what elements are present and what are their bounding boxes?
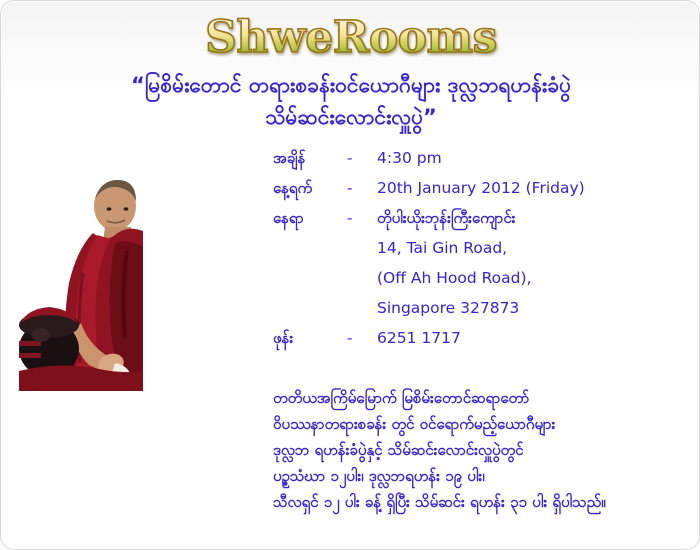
monk-photo-artwork: [19, 173, 143, 391]
detail-value-date: 20th January 2012 (Friday): [377, 179, 585, 197]
detail-value-address-line1: 14, Tai Gin Road,: [377, 239, 507, 257]
detail-row-time: အချိန် - 4:30 pm: [273, 149, 673, 179]
detail-dash: -: [347, 329, 377, 347]
detail-value-address-line2: (Off Ah Hood Road),: [377, 269, 531, 287]
detail-row-address-line2: (Off Ah Hood Road),: [273, 269, 673, 299]
monk-photo: [19, 173, 143, 391]
logo-banner: ShweRooms: [1, 9, 700, 67]
page-title-line1: “မြစိမ်းတောင် တရားစခန်းဝင်ယောဂီများ ဒုလ္…: [41, 69, 661, 101]
detail-row-date: နေ့ရက် - 20th January 2012 (Friday): [273, 179, 673, 209]
body-paragraph: တတိယအကြိမ်မြောက် မြစိမ်းတောင်ဆရာတော် ဝိပ…: [273, 385, 693, 515]
detail-label-venue: နေရာ: [273, 209, 347, 231]
flyer-card: ShweRooms “မြစိမ်းတောင် တရားစခန်းဝင်ယောဂ…: [0, 0, 700, 550]
detail-value-time: 4:30 pm: [377, 149, 442, 167]
detail-label-time: အချိန်: [273, 149, 347, 171]
detail-value-phone: 6251 1717: [377, 329, 461, 347]
site-logo[interactable]: ShweRooms: [205, 9, 497, 67]
paragraph-line-2: ဝိပဿနာတရားစခန်း တွင် ဝင်ရောက်မည့်ယောဂီမျ…: [273, 411, 693, 437]
paragraph-line-4: ပဉ္စသံဃာ ၁၂ပါး၊ ဒုလ္လဘရဟန်း ၁၉ ပါး၊: [273, 463, 693, 489]
page-title: “မြစိမ်းတောင် တရားစခန်းဝင်ယောဂီများ ဒုလ္…: [41, 69, 661, 133]
paragraph-line-5: သီလရှင် ၁၂ ပါး ခန့် ရှိပြီး သိမ်ဆင်း ရဟန…: [273, 489, 693, 515]
event-details: အချိန် - 4:30 pm နေ့ရက် - 20th January 2…: [273, 149, 673, 359]
detail-row-venue: နေရာ - တိုပါးယိုးဘုန်းကြီးကျောင်း: [273, 209, 673, 239]
page-title-line2: သိမ်ဆင်းလောင်းလှူပွဲ”: [41, 101, 661, 133]
paragraph-line-1: တတိယအကြိမ်မြောက် မြစိမ်းတောင်ဆရာတော်: [273, 385, 693, 411]
detail-value-venue: တိုပါးယိုးဘုန်းကြီးကျောင်း: [377, 209, 515, 231]
detail-label-date: နေ့ရက်: [273, 179, 347, 201]
detail-dash: -: [347, 149, 377, 167]
detail-dash: -: [347, 209, 377, 227]
detail-value-address-line3: Singapore 327873: [377, 299, 519, 317]
detail-row-address-line3: Singapore 327873: [273, 299, 673, 329]
detail-row-address-line1: 14, Tai Gin Road,: [273, 239, 673, 269]
detail-label-phone: ဖုန်း: [273, 329, 347, 351]
paragraph-line-3: ဒုလ္လဘ ရဟန်းခံပွဲနှင့် သိမ်ဆင်းလောင်းလှူ…: [273, 437, 693, 463]
detail-row-phone: ဖုန်း - 6251 1717: [273, 329, 673, 359]
detail-dash: -: [347, 179, 377, 197]
